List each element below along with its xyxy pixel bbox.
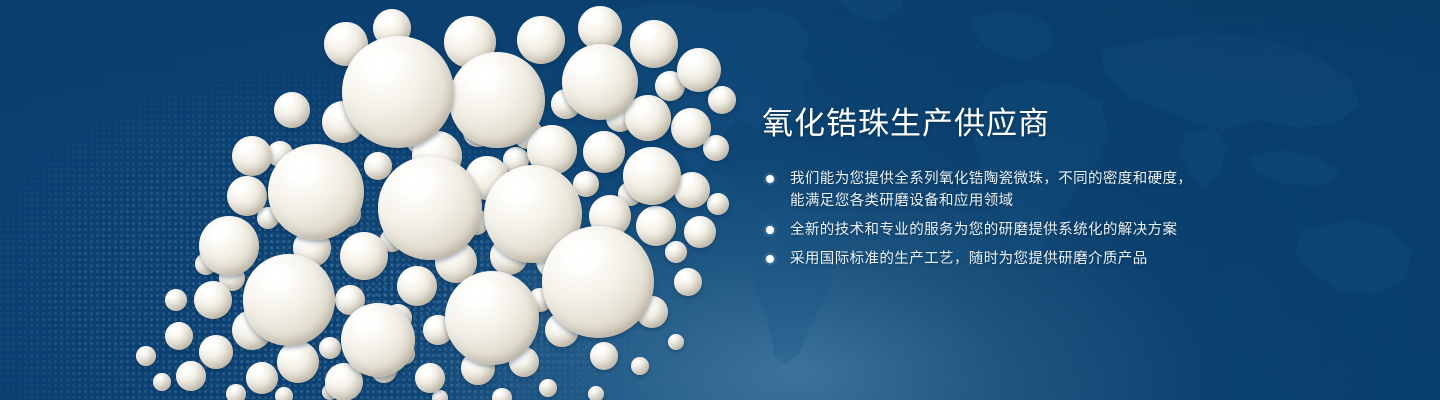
ceramic-bead xyxy=(630,20,678,68)
ceramic-bead xyxy=(153,373,171,391)
ceramic-bead xyxy=(517,16,565,64)
bullet-text-line1: 全新的技术和专业的服务为您的研磨提供系统化的解决方案 xyxy=(790,222,1177,238)
bullet-dot-icon xyxy=(766,255,774,263)
ceramic-bead xyxy=(176,361,206,391)
ceramic-bead xyxy=(677,48,721,92)
ceramic-bead xyxy=(194,281,232,319)
ceramic-bead xyxy=(226,384,246,400)
ceramic-bead xyxy=(665,241,687,263)
ceramic-bead xyxy=(274,92,310,128)
ceramic-bead xyxy=(684,216,716,248)
ceramic-bead xyxy=(671,108,711,148)
ceramic-bead xyxy=(246,362,278,394)
ceramic-bead xyxy=(623,147,681,205)
page-title: 氧化锆珠生产供应商 xyxy=(762,104,1362,144)
ceramic-bead xyxy=(415,363,445,393)
ceramic-bead xyxy=(378,156,482,260)
ceramic-bead xyxy=(539,379,557,397)
ceramic-bead xyxy=(341,303,415,377)
ceramic-bead xyxy=(243,254,335,346)
ceramic-bead xyxy=(636,206,676,246)
ceramic-bead xyxy=(340,232,388,280)
ceramic-bead xyxy=(199,216,259,276)
zirconia-beads-photo xyxy=(0,0,760,400)
ceramic-bead xyxy=(562,44,638,120)
list-item: 全新的技术和专业的服务为您的研磨提供系统化的解决方案 xyxy=(762,219,1362,241)
ceramic-bead xyxy=(227,176,267,216)
ceramic-bead xyxy=(492,388,512,400)
bullet-text-line1: 采用国际标准的生产工艺，随时为您提供研磨介质产品 xyxy=(790,251,1148,267)
list-item: 我们能为您提供全系列氧化锆陶瓷微珠，不同的密度和硬度， 能满足您各类研磨设备和应… xyxy=(762,168,1362,212)
ceramic-bead xyxy=(542,226,654,338)
hero-banner: 氧化锆珠生产供应商 我们能为您提供全系列氧化锆陶瓷微珠，不同的密度和硬度， 能满… xyxy=(0,0,1440,400)
ceramic-bead xyxy=(268,144,364,240)
ceramic-bead xyxy=(136,346,156,366)
feature-bullet-list: 我们能为您提供全系列氧化锆陶瓷微珠，不同的密度和硬度， 能满足您各类研磨设备和应… xyxy=(762,168,1362,270)
ceramic-bead xyxy=(583,131,625,173)
ceramic-bead xyxy=(165,289,187,311)
ceramic-bead xyxy=(275,387,293,400)
banner-copy-block: 氧化锆珠生产供应商 我们能为您提供全系列氧化锆陶瓷微珠，不同的密度和硬度， 能满… xyxy=(762,104,1362,270)
ceramic-bead xyxy=(165,322,193,350)
bullet-dot-icon xyxy=(766,226,774,234)
ceramic-bead xyxy=(708,86,736,114)
ceramic-bead xyxy=(232,136,272,176)
bullet-text-line2: 能满足您各类研磨设备和应用领域 xyxy=(790,190,1362,212)
ceramic-bead xyxy=(590,342,618,370)
ceramic-bead xyxy=(707,193,729,215)
ceramic-bead xyxy=(445,271,539,365)
ceramic-bead xyxy=(668,334,684,350)
ceramic-bead xyxy=(588,386,604,400)
list-item: 采用国际标准的生产工艺，随时为您提供研磨介质产品 xyxy=(762,248,1362,270)
ceramic-bead xyxy=(199,335,233,369)
ceramic-bead xyxy=(631,357,649,375)
ceramic-bead xyxy=(449,52,545,148)
ceramic-bead xyxy=(674,268,702,296)
bullet-dot-icon xyxy=(766,175,774,183)
bullet-text-line1: 我们能为您提供全系列氧化锆陶瓷微珠，不同的密度和硬度， xyxy=(790,171,1192,187)
ceramic-bead xyxy=(397,266,437,306)
ceramic-bead xyxy=(342,36,454,148)
ceramic-bead xyxy=(277,341,319,383)
ceramic-bead xyxy=(319,337,341,359)
